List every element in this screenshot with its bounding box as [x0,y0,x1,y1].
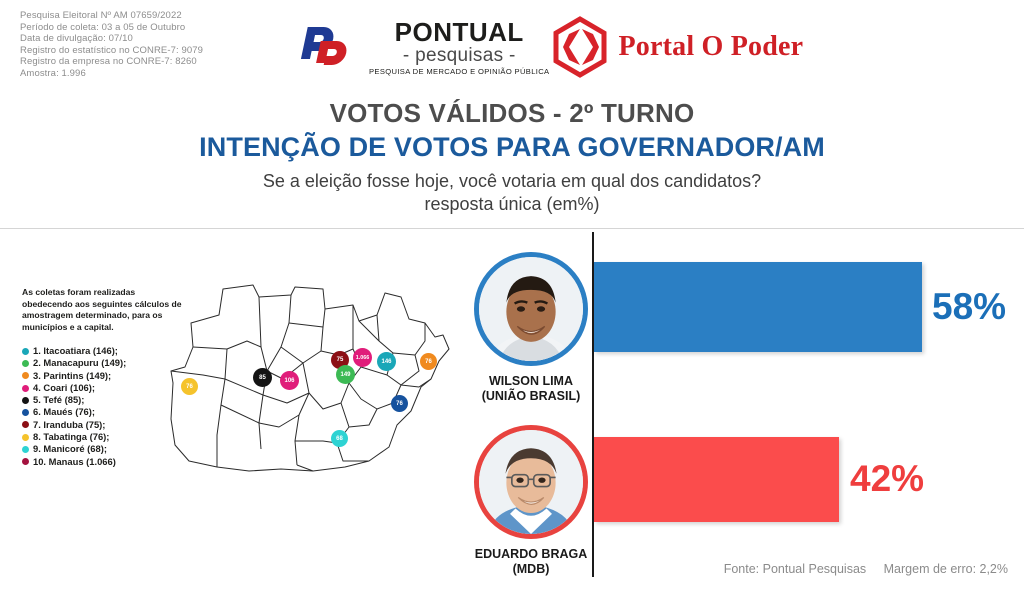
map-marker-value: 106 [284,378,294,384]
legend-dot-icon [22,409,29,416]
bar-value-eduardo-braga: 42% [850,460,924,497]
title-subquestion: resposta única (em%) [0,193,1024,216]
map-marker-value: 149 [340,372,350,378]
meta-line-sample-size: Amostra: 1.996 [20,68,270,80]
poll-infographic: Pesquisa Eleitoral Nº AM 07659/2022 Perí… [0,0,1024,595]
map-marker-parintins: 76 [420,353,437,370]
amazonas-municipalities-outline-icon [163,275,453,480]
legend-dot-icon [22,446,29,453]
candidate-name: EDUARDO BRAGA [475,547,588,562]
pontual-pesquisas-logo: PONTUAL - pesquisas - PESQUISA DE MERCAD… [295,19,549,76]
legend-dot-icon [22,360,29,367]
map-marker-manaus: 1.066 [353,348,372,367]
map-marker-maues: 76 [391,395,408,412]
legend-label: 7. Iranduba (75); [33,419,105,431]
candidate-party: (MDB) [513,562,550,576]
meta-line-collection-period: Período de coleta: 03 a 05 de Outubro [20,22,270,34]
bar-eduardo-braga [594,437,839,522]
poder-hexagon-monogram-icon [549,16,611,78]
legend-label: 1. Itacoatiara (146); [33,345,118,357]
footer-source: Fonte: Pontual Pesquisas [724,562,866,576]
wilson-lima-portrait-icon [479,257,583,361]
title-question: Se a eleição fosse hoje, você votaria em… [0,170,1024,193]
bar-value-wilson-lima: 58% [932,288,1006,325]
candidate-block-wilson-lima: WILSON LIMA (UNIÃO BRASIL) [472,252,590,403]
eduardo-braga-portrait-icon [479,430,583,534]
legend-dot-icon [22,372,29,379]
map-marker-value: 75 [337,357,344,363]
legend-label: 3. Parintins (149); [33,370,111,382]
legend-label: 4. Coari (106); [33,382,95,394]
portal-o-poder-name: Portal O Poder [618,31,803,63]
legend-label: 10. Manaus (1.066) [33,456,116,468]
map-marker-manacapuru: 149 [336,365,355,384]
legend-dot-icon [22,421,29,428]
pontual-logo-tagline: PESQUISA DE MERCADO E OPINIÃO PÚBLICA [369,68,549,76]
map-marker-value: 76 [186,384,193,390]
map-marker-value: 76 [396,401,403,407]
legend-dot-icon [22,458,29,465]
map-marker-value: 76 [425,359,432,365]
amazonas-state-map: 76 85 106 75 149 1.066 146 76 76 68 [163,275,453,480]
legend-label: 2. Manacapuru (149); [33,357,126,369]
wilson-lima-portrait-avatar [474,252,588,366]
map-marker-value: 146 [381,359,391,365]
title-block: VOTOS VÁLIDOS - 2º TURNO INTENÇÃO DE VOT… [0,98,1024,216]
title-line-valid-votes: VOTOS VÁLIDOS - 2º TURNO [0,98,1024,128]
survey-metadata: Pesquisa Eleitoral Nº AM 07659/2022 Perí… [20,10,270,80]
legend-label: 9. Manicoré (68); [33,443,107,455]
pontual-op-monogram-icon [295,21,361,73]
map-marker-coari: 106 [280,371,299,390]
map-marker-manicore: 68 [331,430,348,447]
pontual-logo-name: PONTUAL [395,19,524,45]
header-divider [0,228,1024,229]
map-marker-tabatinga: 76 [181,378,198,395]
legend-label: 5. Tefé (85); [33,394,84,406]
bar-wilson-lima [594,262,922,352]
meta-line-statistician-registry: Registro do estatístico no CONRE-7: 9079 [20,45,270,57]
map-marker-value: 68 [336,436,343,442]
footer-margin-of-error: Margem de erro: 2,2% [884,562,1008,576]
meta-line-release-date: Data de divulgação: 07/10 [20,33,270,45]
meta-line-registration: Pesquisa Eleitoral Nº AM 07659/2022 [20,10,270,22]
eduardo-braga-portrait-avatar [474,425,588,539]
portal-o-poder-logo: Portal O Poder [549,16,803,78]
map-marker-tefe: 85 [253,368,272,387]
legend-dot-icon [22,385,29,392]
map-marker-value: 1.066 [356,355,370,361]
candidate-block-eduardo-braga: EDUARDO BRAGA (MDB) [472,425,590,576]
map-marker-value: 85 [259,375,266,381]
legend-label: 6. Maués (76); [33,406,95,418]
legend-dot-icon [22,348,29,355]
candidate-name: WILSON LIMA [489,374,573,389]
legend-label: 8. Tabatinga (76); [33,431,109,443]
map-marker-itacoatiara: 146 [377,352,396,371]
legend-dot-icon [22,397,29,404]
sampling-note: As coletas foram realizadas obedecendo a… [22,287,182,333]
logo-bar: PONTUAL - pesquisas - PESQUISA DE MERCAD… [295,8,735,86]
candidate-party: (UNIÃO BRASIL) [482,389,581,403]
meta-line-company-registry: Registro da empresa no CONRE-7: 8260 [20,56,270,68]
pontual-logo-subtitle: - pesquisas - [403,46,516,65]
pontual-logo-text: PONTUAL - pesquisas - PESQUISA DE MERCAD… [369,19,549,76]
title-line-main: INTENÇÃO DE VOTOS PARA GOVERNADOR/AM [0,130,1024,164]
chart-footer: Fonte: Pontual Pesquisas Margem de erro:… [710,562,1008,576]
legend-dot-icon [22,434,29,441]
